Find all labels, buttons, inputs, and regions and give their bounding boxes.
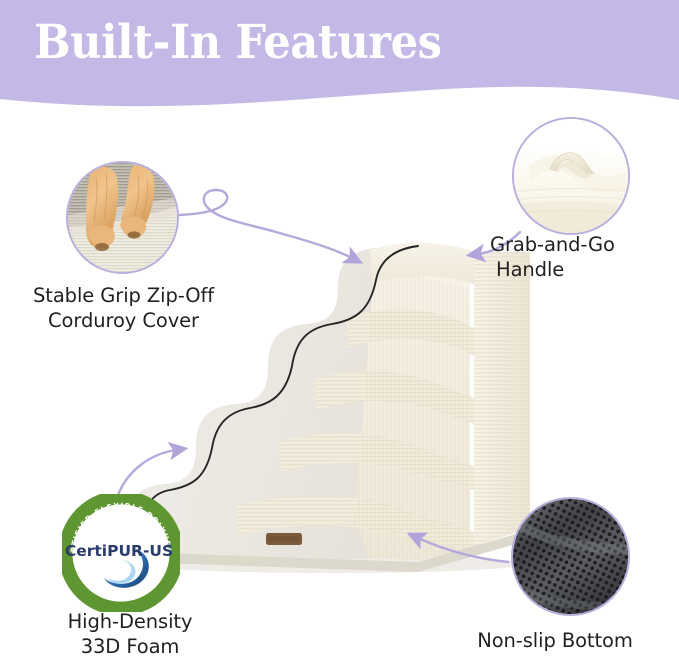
callout-label-handle-line2: Handle [490,257,670,282]
cat-paws-on-corduroy-icon [66,161,179,274]
certipur-us-badge: CONTAINS CERTIFIED FLEXIBLE POLYURETHANE… [62,494,180,612]
callout-label-cover-line2: Corduroy Cover [6,308,241,333]
carry-handle-icon [512,117,630,235]
callout-label-nonslip: Non-slip Bottom [440,628,670,653]
infographic-page: Built-In Features [0,0,679,658]
callout-label-cover: Stable Grip Zip-Off Corduroy Cover [6,283,241,333]
header-banner: Built-In Features [0,0,679,112]
callout-label-cover-line1: Stable Grip Zip-Off [33,284,214,307]
callout-label-nonslip-line1: Non-slip Bottom [477,629,633,652]
non-slip-fabric-icon [511,497,630,616]
certipur-wordmark: CertiPUR-US [65,542,173,560]
product-pet-stairs [118,228,558,588]
callout-label-handle-line1: Grab-and-Go [490,233,615,256]
callout-label-foam-line2: 33D Foam [30,634,230,658]
callout-label-handle: Grab-and-Go Handle [490,232,670,282]
svg-text:®: ® [166,543,172,550]
callout-label-foam-line1: High-Density [68,610,193,633]
page-title: Built-In Features [34,15,442,71]
callout-label-foam: High-Density 33D Foam [30,609,230,658]
